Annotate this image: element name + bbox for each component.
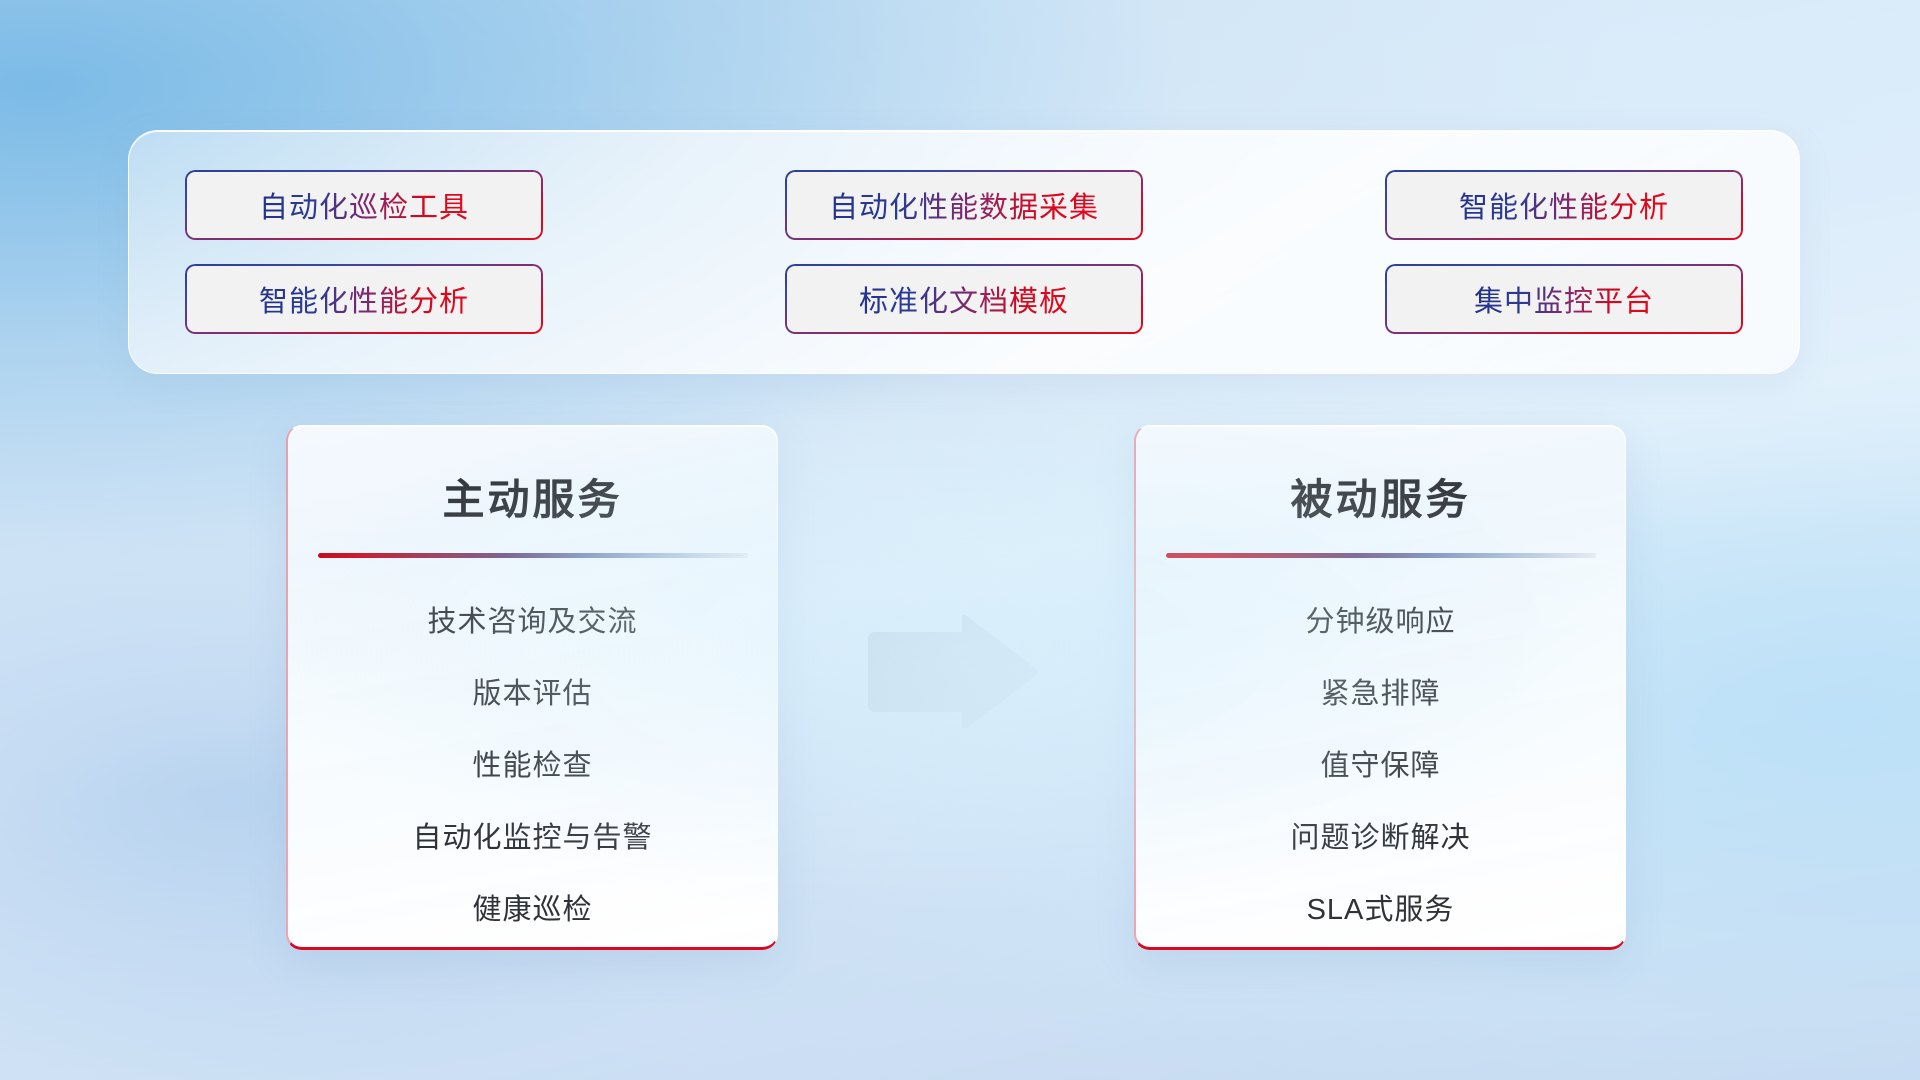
card-divider: [1166, 553, 1596, 558]
capability-pill-intelligent-performance-analysis-2[interactable]: 智能化性能分析: [185, 264, 543, 334]
capability-row-2: 智能化性能分析 标准化文档模板 集中监控平台: [185, 264, 1743, 334]
slide-canvas: 自动化巡检工具 自动化性能数据采集 智能化性能分析 智能化性能分析 标准化文档模…: [0, 0, 1920, 1080]
capability-pill-label: 集中监控平台: [1474, 278, 1654, 320]
list-item: SLA式服务: [1307, 886, 1455, 928]
list-item: 性能检查: [472, 742, 592, 784]
arrow-right-icon: [862, 612, 1040, 728]
capability-row-1: 自动化巡检工具 自动化性能数据采集 智能化性能分析: [185, 170, 1743, 240]
list-item: 紧急排障: [1320, 670, 1440, 712]
service-card-title: 主动服务: [442, 466, 622, 527]
capability-pill-label: 自动化性能数据采集: [829, 184, 1099, 226]
service-item-list: 技术咨询及交流 版本评估 性能检查 自动化监控与告警 健康巡检: [318, 598, 747, 928]
capability-pill-standardized-document-template[interactable]: 标准化文档模板: [785, 264, 1143, 334]
capability-pill-label: 智能化性能分析: [1459, 184, 1669, 226]
service-item-list: 分钟级响应 紧急排障 值守保障 问题诊断解决 SLA式服务: [1166, 598, 1595, 928]
capability-pill-label: 自动化巡检工具: [259, 184, 469, 226]
list-item: 版本评估: [472, 670, 592, 712]
service-card-reactive[interactable]: 被动服务 分钟级响应 紧急排障 值守保障 问题诊断解决 SLA式服务: [1134, 425, 1626, 950]
capability-pill-label: 智能化性能分析: [259, 278, 469, 320]
card-divider: [318, 553, 748, 558]
capability-pill-intelligent-performance-analysis[interactable]: 智能化性能分析: [1385, 170, 1743, 240]
list-item: 问题诊断解决: [1290, 814, 1470, 856]
list-item: 健康巡检: [472, 886, 592, 928]
capability-pill-centralized-monitoring-platform[interactable]: 集中监控平台: [1385, 264, 1743, 334]
capability-pill-automated-inspection-tool[interactable]: 自动化巡检工具: [185, 170, 543, 240]
capability-pill-label: 标准化文档模板: [859, 278, 1069, 320]
service-card-proactive[interactable]: 主动服务 技术咨询及交流 版本评估 性能检查 自动化监控与告警 健康巡检: [286, 425, 778, 950]
list-item: 自动化监控与告警: [412, 814, 652, 856]
list-item: 分钟级响应: [1305, 598, 1455, 640]
capability-panel: 自动化巡检工具 自动化性能数据采集 智能化性能分析 智能化性能分析 标准化文档模…: [128, 130, 1800, 374]
service-card-title: 被动服务: [1290, 466, 1470, 527]
list-item: 技术咨询及交流: [427, 598, 637, 640]
list-item: 值守保障: [1320, 742, 1440, 784]
capability-pill-automated-performance-data-collection[interactable]: 自动化性能数据采集: [785, 170, 1143, 240]
